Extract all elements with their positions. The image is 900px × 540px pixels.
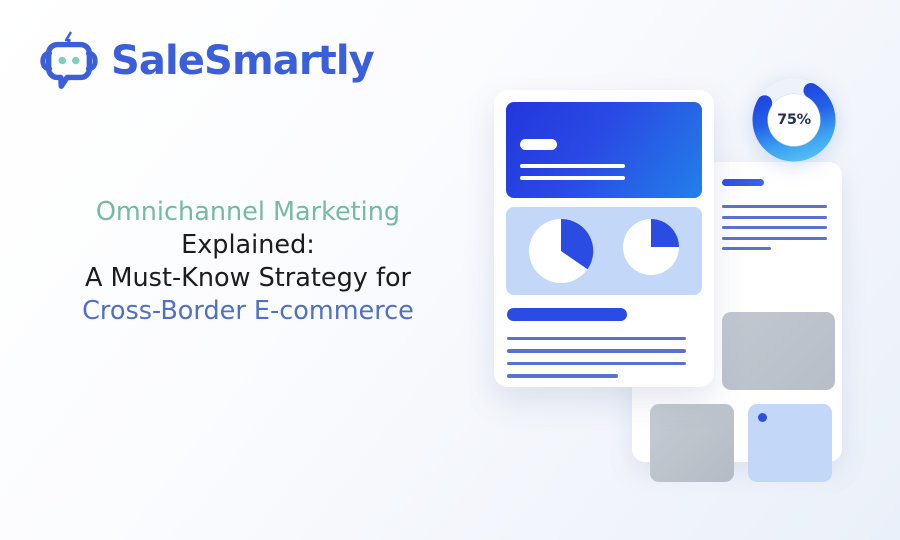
text-line <box>722 216 827 219</box>
brand-logo[interactable]: SaleSmartly <box>38 30 374 92</box>
text-line <box>507 337 686 340</box>
back-card-title-pill <box>722 179 764 186</box>
headline-line-2: Explained: <box>24 229 472 262</box>
text-line <box>722 205 827 208</box>
text-line <box>507 349 686 352</box>
donut-percentage-label: 75% <box>748 74 840 166</box>
card-cta-pill[interactable] <box>507 308 627 321</box>
headline-line-3: A Must-Know Strategy for <box>24 262 472 295</box>
back-card-thumbnail-blue <box>748 404 832 482</box>
headline: Omnichannel Marketing Explained: A Must-… <box>24 196 472 329</box>
text-line <box>507 362 686 365</box>
headline-line-4: Cross-Border E-commerce <box>24 295 472 328</box>
text-line <box>722 226 827 229</box>
hero-text-line <box>520 176 625 180</box>
pie-chart-panel <box>506 207 702 295</box>
headline-line-1: Omnichannel Marketing <box>24 196 472 229</box>
robot-chat-icon <box>38 30 100 92</box>
dashboard-illustration: 75% <box>470 58 890 498</box>
hero-tag-pill <box>520 139 557 150</box>
progress-donut-chart: 75% <box>748 74 840 166</box>
pie-chart-left <box>526 216 596 286</box>
hero-banner-block <box>506 102 702 198</box>
banner-canvas: SaleSmartly Omnichannel Marketing Explai… <box>0 0 900 540</box>
pie-chart-right <box>620 216 682 278</box>
primary-dashboard-card <box>494 90 714 387</box>
back-card-thumbnail-gray <box>650 404 734 482</box>
back-card-text-lines <box>722 205 827 258</box>
blue-dot-icon <box>758 413 767 422</box>
text-line <box>722 247 771 250</box>
brand-name: SaleSmartly <box>111 41 374 81</box>
card-body-lines <box>507 337 686 387</box>
hero-text-line <box>520 164 625 168</box>
back-card-image-placeholder <box>722 312 835 390</box>
text-line <box>722 237 827 240</box>
text-line <box>507 374 618 377</box>
